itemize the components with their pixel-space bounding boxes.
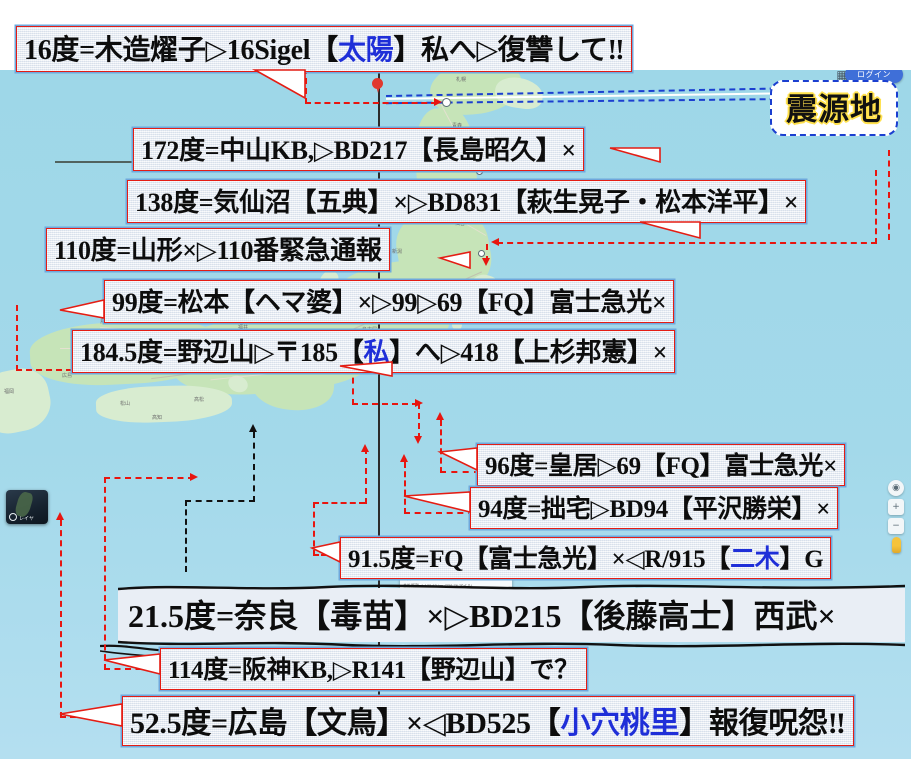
callout-text: 】報復呪怨‼	[679, 707, 845, 740]
annotation-line-c525	[60, 716, 126, 718]
annotation-line-right-rail	[888, 150, 890, 240]
annotation-line-c94	[404, 512, 474, 514]
annotation-arrow-c525	[56, 512, 64, 520]
callout-text: 】へ▷418【上杉邦憲】×	[389, 338, 667, 367]
annotation-line-c96	[440, 471, 480, 473]
annotation-arrow-c138	[491, 238, 499, 246]
annotation-line-c215-black	[185, 500, 187, 572]
annotation-arrow-c215-black	[249, 424, 257, 432]
annotation-line-c138	[875, 170, 877, 244]
callout-99-degrees[interactable]: 99度=松本【ヘマ婆】×▷99▷69【FQ】富士急光×	[104, 280, 674, 323]
annotation-line-c16	[305, 102, 437, 104]
annotation-line-c114	[104, 668, 152, 670]
callout-wavy-border-top	[118, 582, 905, 592]
map-label: 広島	[62, 372, 72, 379]
callout-text: 99度=松本【ヘマ婆】×▷99▷69【FQ】富士急光×	[112, 288, 666, 317]
annotation-line-c114	[104, 477, 106, 670]
zoom-out-button[interactable]: −	[888, 518, 904, 534]
screenshot-root: 札幌 青森 秋田 盛岡 仙台 新潟 金沢 長野 東京 名古屋 京都 大阪 神戸 …	[0, 0, 911, 759]
map-label: 松山	[120, 400, 130, 407]
callout-text: 96度=皇居▷69【FQ】富士急光×	[485, 453, 837, 480]
callout-text: 94度=拙宅▷BD94【平沢勝栄】×	[478, 496, 830, 523]
annotation-line-c915	[313, 554, 343, 556]
annotation-line-c94	[404, 462, 406, 514]
annotation-line-c915c	[365, 448, 367, 504]
measure-vertex[interactable]	[442, 98, 451, 107]
map-pin-marker[interactable]	[372, 78, 383, 93]
epicenter-label[interactable]: 震源地	[770, 80, 898, 136]
compass-icon[interactable]: ◉	[888, 480, 904, 496]
annotation-arrow-c110	[482, 258, 490, 266]
callout-110-degrees[interactable]: 110度=山形×▷110番緊急通報	[46, 228, 390, 271]
callout-highlight: 太陽	[338, 35, 393, 66]
callout-highlight: 小穴桃里	[560, 707, 679, 740]
callout-text: 114度=阪神KB,▷R141【野辺山】で？	[168, 657, 579, 684]
annotation-line-c215-black	[253, 432, 255, 502]
layers-icon	[9, 513, 17, 521]
annotation-arrow-c1845b	[414, 436, 422, 444]
landmass-oki	[80, 308, 94, 316]
callout-text: 110度=山形×▷110番緊急通報	[54, 236, 382, 265]
map-label: 高松	[194, 396, 204, 403]
map-layers-button[interactable]: レイヤ	[6, 490, 48, 524]
callout-text: 21.5度=奈良【毒苗】×▷BD215【後藤高士】西武×	[128, 598, 836, 634]
callout-138-degrees[interactable]: 138度=気仙沼【五典】×▷BD831【萩生晃子・松本洋平】×	[127, 180, 806, 223]
annotation-arrow-c94	[400, 454, 408, 462]
pegman-icon[interactable]	[892, 537, 901, 553]
annotation-arrow-c96	[436, 412, 444, 420]
callout-text: 91.5度=FQ【富士急光】×◁R/915【	[348, 546, 730, 573]
map-label: 札幌	[456, 76, 466, 83]
annotation-line-c114b	[104, 477, 194, 479]
callout-94-degrees[interactable]: 94度=拙宅▷BD94【平沢勝栄】×	[470, 487, 838, 529]
annotation-line-c1845b	[418, 403, 420, 439]
callout-highlight: 私	[364, 338, 390, 367]
map-label: 福岡	[4, 388, 14, 395]
callout-text: 】私へ▷復讐して‼	[393, 35, 624, 66]
map-label: 新潟	[392, 248, 402, 255]
epicenter-text: 震源地	[786, 92, 882, 127]
annotation-line-c525	[60, 520, 62, 718]
callout-21-5-degrees[interactable]: 21.5度=奈良【毒苗】×▷BD215【後藤高士】西武×	[118, 588, 905, 642]
measure-vertex[interactable]	[478, 250, 485, 257]
map-label: 高知	[152, 414, 162, 421]
zoom-in-button[interactable]: +	[888, 499, 904, 515]
callout-96-degrees[interactable]: 96度=皇居▷69【FQ】富士急光×	[477, 444, 845, 486]
callout-text: 138度=気仙沼【五典】×▷BD831【萩生晃子・松本洋平】×	[135, 188, 798, 217]
layer-button-label: レイヤ	[9, 513, 34, 522]
callout-text: 16度=木造燿子▷16Sigel【	[24, 35, 338, 66]
callout-highlight: 二木	[730, 546, 779, 573]
annotation-line-left-spine	[16, 305, 18, 371]
callout-text: 172度=中山KB,▷BD217【長島昭久】×	[141, 136, 576, 165]
annotation-line-c96	[440, 420, 442, 473]
annotation-line-c215-black	[185, 500, 255, 502]
callout-91-5-degrees[interactable]: 91.5度=FQ【富士急光】×◁R/915【二木】G	[340, 537, 831, 579]
callout-52-5-degrees[interactable]: 52.5度=広島【文鳥】×◁BD525【小穴桃里】報復呪怨‼	[122, 696, 854, 746]
annotation-line-c16	[305, 68, 307, 104]
annotation-line-c138	[497, 242, 877, 244]
callout-16-degrees[interactable]: 16度=木造燿子▷16Sigel【太陽】私へ▷復讐して‼	[16, 26, 632, 72]
annotation-line-c1845	[352, 403, 418, 405]
pin-head	[372, 78, 383, 89]
callout-text: 】G	[780, 546, 824, 573]
annotation-line-c915	[313, 502, 315, 556]
callout-text: 52.5度=広島【文鳥】×◁BD525【	[130, 707, 560, 740]
callout-114-degrees[interactable]: 114度=阪神KB,▷R141【野辺山】で？	[160, 648, 587, 690]
annotation-line-c915b	[313, 502, 365, 504]
callout-172-degrees[interactable]: 172度=中山KB,▷BD217【長島昭久】×	[133, 128, 584, 171]
annotation-arrow-c114	[190, 473, 198, 481]
map-controls[interactable]: ◉ + −	[887, 480, 905, 553]
annotation-arrow-c16	[434, 98, 442, 106]
callout-184-5-degrees[interactable]: 184.5度=野辺山▷〒185【私】へ▷418【上杉邦憲】×	[72, 330, 675, 373]
callout-text: 184.5度=野辺山▷〒185【	[80, 338, 364, 367]
